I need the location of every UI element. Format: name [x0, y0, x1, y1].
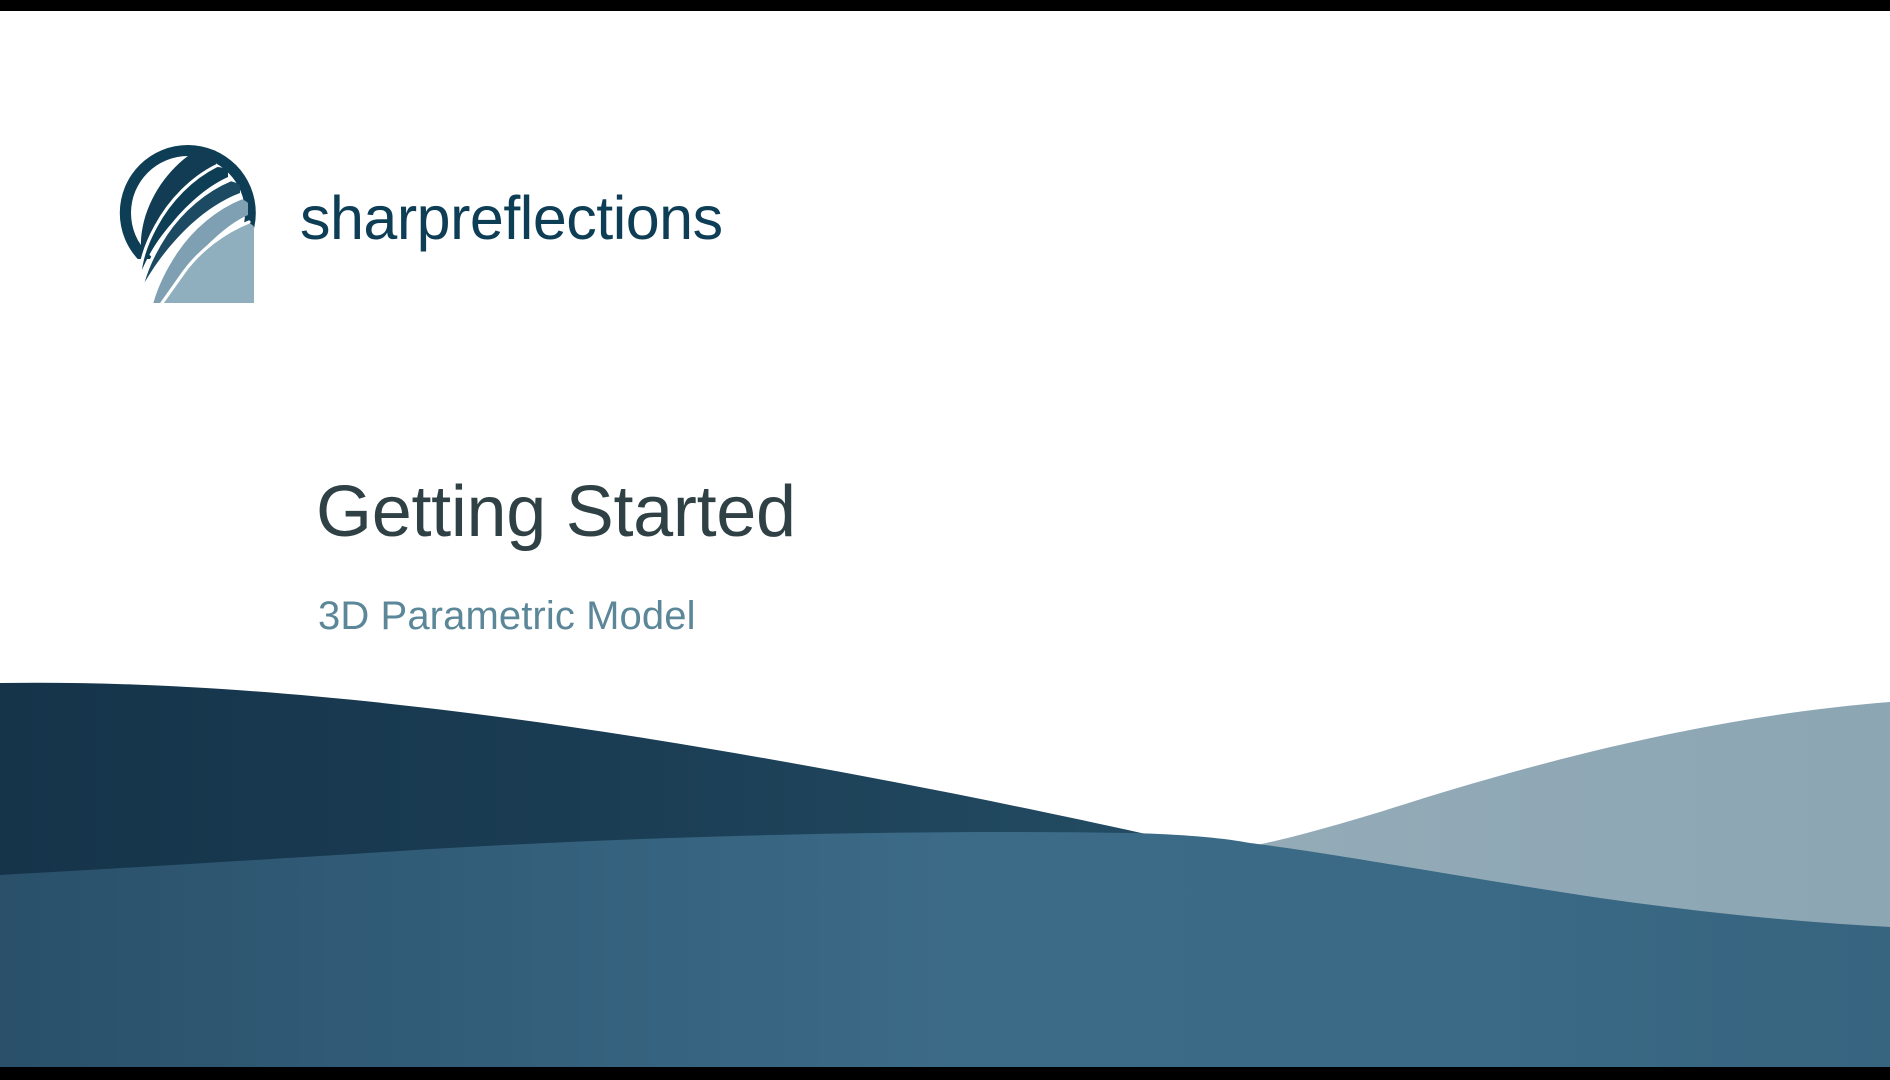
- letterbox-bar-bottom: [0, 1067, 1890, 1080]
- title-slide: sharpreflections Getting Started 3D Para…: [0, 0, 1890, 1080]
- slide-title: Getting Started: [316, 475, 796, 551]
- slide-subtitle: 3D Parametric Model: [318, 594, 696, 638]
- letterbox-bar-top: [0, 0, 1890, 11]
- decorative-waves: [0, 647, 1890, 1067]
- slide-canvas: sharpreflections Getting Started 3D Para…: [0, 11, 1890, 1067]
- brand-logo: sharpreflections: [112, 139, 723, 303]
- sharpreflections-leaf-logo-icon: [112, 139, 264, 303]
- brand-wordmark: sharpreflections: [300, 188, 723, 255]
